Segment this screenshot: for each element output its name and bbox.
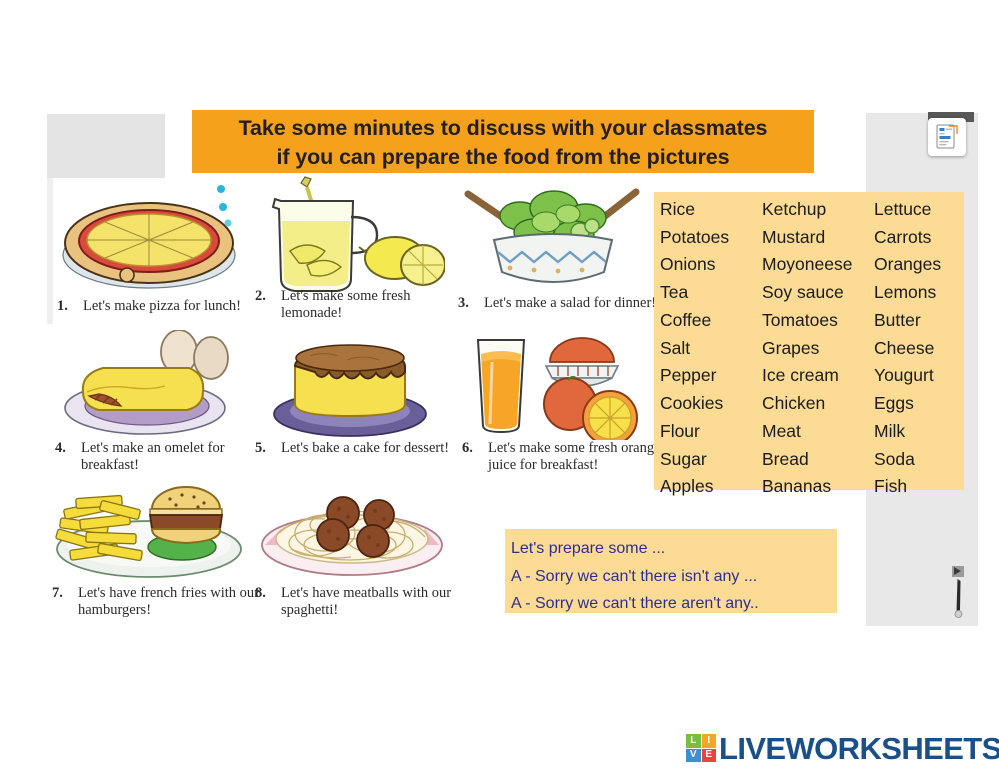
worksheet-page: Take some minutes to discuss with your c… xyxy=(0,0,999,772)
vocab-word: Milk xyxy=(874,418,964,446)
item-number: 7. xyxy=(52,585,72,619)
liveworksheets-logo[interactable]: L I V E LIVEWORKSHEETS xyxy=(686,729,999,767)
omelet-illustration xyxy=(55,330,250,440)
item-caption-text: Let's make some fresh orange juice for b… xyxy=(488,440,662,474)
item-number: 8. xyxy=(255,585,275,619)
food-item-spaghetti: 8. Let's have meatballs with our spaghet… xyxy=(255,475,470,625)
vocab-word: Bananas xyxy=(762,473,874,501)
orange-juice-illustration xyxy=(462,332,642,440)
item-number: 5. xyxy=(255,440,275,457)
item-caption-text: Let's bake a cake for dessert! xyxy=(281,440,449,457)
vocab-word: Meat xyxy=(762,418,874,446)
food-item-caption: 8. Let's have meatballs with our spaghet… xyxy=(255,585,470,619)
food-item-caption: 4. Let's make an omelet for breakfast! xyxy=(55,440,270,474)
salad-illustration xyxy=(458,180,648,298)
food-item-cake: 5. Let's bake a cake for dessert! xyxy=(255,330,455,475)
vocab-word: Bread xyxy=(762,446,874,474)
prompt-line-3: A - Sorry we can't there aren't any.. xyxy=(511,590,837,618)
mark-cell-e: E xyxy=(702,749,717,763)
item-caption-text: Let's make a salad for dinner! xyxy=(484,295,656,312)
vocab-word: Eggs xyxy=(874,390,964,418)
vocab-word: Potatoes xyxy=(660,224,762,252)
spaghetti-meatballs-illustration xyxy=(255,475,450,583)
vocab-word: Coffee xyxy=(660,307,762,335)
item-number: 3. xyxy=(458,295,478,312)
vocab-word: Onions xyxy=(660,251,762,279)
vocab-word: Grapes xyxy=(762,335,874,363)
vocab-word: Rice xyxy=(660,196,762,224)
vocab-word: Cookies xyxy=(660,390,762,418)
vocabulary-word-bank: Rice Potatoes Onions Tea Coffee Salt Pep… xyxy=(654,192,964,490)
item-caption-text: Let's have french fries with our hamburg… xyxy=(78,585,267,619)
vocab-word: Tomatoes xyxy=(762,307,874,335)
vocabulary-column-2: Ketchup Mustard Moyoneese Soy sauce Toma… xyxy=(762,196,874,490)
fries-burger-illustration xyxy=(52,475,247,583)
vocab-word: Apples xyxy=(660,473,762,501)
vocab-word: Fish xyxy=(874,473,964,501)
prompt-line-1: Let's prepare some ... xyxy=(511,535,837,563)
food-item-caption: 1. Let's make pizza for lunch! xyxy=(57,298,241,315)
mark-cell-l: L xyxy=(686,734,701,748)
vocab-word: Ice cream xyxy=(762,362,874,390)
vocab-word: Moyoneese xyxy=(762,251,874,279)
item-caption-text: Let's make pizza for lunch! xyxy=(83,298,241,315)
item-number: 1. xyxy=(57,298,77,315)
food-item-caption: 7. Let's have french fries with our hamb… xyxy=(52,585,267,619)
mark-cell-i: I xyxy=(702,734,717,748)
food-item-salad: 3. Let's make a salad for dinner! xyxy=(458,180,658,325)
food-item-caption: 6. Let's make some fresh orange juice fo… xyxy=(462,440,662,474)
brand-wordmark: LIVEWORKSHEETS xyxy=(719,733,999,764)
food-item-omelet: 4. Let's make an omelet for breakfast! xyxy=(55,330,270,475)
vocab-word: Lettuce xyxy=(874,196,964,224)
food-item-caption: 5. Let's bake a cake for dessert! xyxy=(255,440,449,457)
vocab-word: Soda xyxy=(874,446,964,474)
food-item-lemonade: 2. Let's make some fresh lemonade! xyxy=(255,173,460,323)
cake-illustration xyxy=(255,330,445,440)
vocabulary-column-1: Rice Potatoes Onions Tea Coffee Salt Pep… xyxy=(654,196,762,490)
vocab-word: Lemons xyxy=(874,279,964,307)
vocab-word: Salt xyxy=(660,335,762,363)
vocab-word: Oranges xyxy=(874,251,964,279)
food-item-orange-juice: 6. Let's make some fresh orange juice fo… xyxy=(462,332,662,477)
vocab-word: Ketchup xyxy=(762,196,874,224)
lemonade-illustration xyxy=(255,173,445,298)
vocab-word: Sugar xyxy=(660,446,762,474)
food-item-fries-burger: 7. Let's have french fries with our hamb… xyxy=(52,475,267,625)
vocab-word: Soy sauce xyxy=(762,279,874,307)
vocab-word: Mustard xyxy=(762,224,874,252)
food-item-caption: 3. Let's make a salad for dinner! xyxy=(458,295,656,312)
prompt-line-2: A - Sorry we can't there isn't any ... xyxy=(511,563,837,591)
item-caption-text: Let's make an omelet for breakfast! xyxy=(81,440,270,474)
dialogue-prompt-box: Let's prepare some ... A - Sorry we can'… xyxy=(505,529,837,613)
vocab-word: Pepper xyxy=(660,362,762,390)
vocab-word: Carrots xyxy=(874,224,964,252)
vocab-word: Butter xyxy=(874,307,964,335)
vocab-word: Flour xyxy=(660,418,762,446)
food-item-pizza: 1. Let's make pizza for lunch! xyxy=(57,183,257,323)
item-caption-text: Let's have meatballs with our spaghetti! xyxy=(281,585,470,619)
liveworksheets-mark-icon: L I V E xyxy=(686,734,716,762)
worksheet-sheet: Take some minutes to discuss with your c… xyxy=(0,0,999,718)
vocab-word: Cheese xyxy=(874,335,964,363)
item-number: 6. xyxy=(462,440,482,474)
pizza-illustration xyxy=(57,183,242,298)
item-caption-text: Let's make some fresh lemonade! xyxy=(281,288,460,322)
vocab-word: Tea xyxy=(660,279,762,307)
mark-cell-v: V xyxy=(686,749,701,763)
item-number: 4. xyxy=(55,440,75,474)
vocab-word: Yougurt xyxy=(874,362,964,390)
food-item-caption: 2. Let's make some fresh lemonade! xyxy=(255,288,460,322)
vocabulary-column-3: Lettuce Carrots Oranges Lemons Butter Ch… xyxy=(874,196,964,490)
item-number: 2. xyxy=(255,288,275,322)
vocab-word: Chicken xyxy=(762,390,874,418)
